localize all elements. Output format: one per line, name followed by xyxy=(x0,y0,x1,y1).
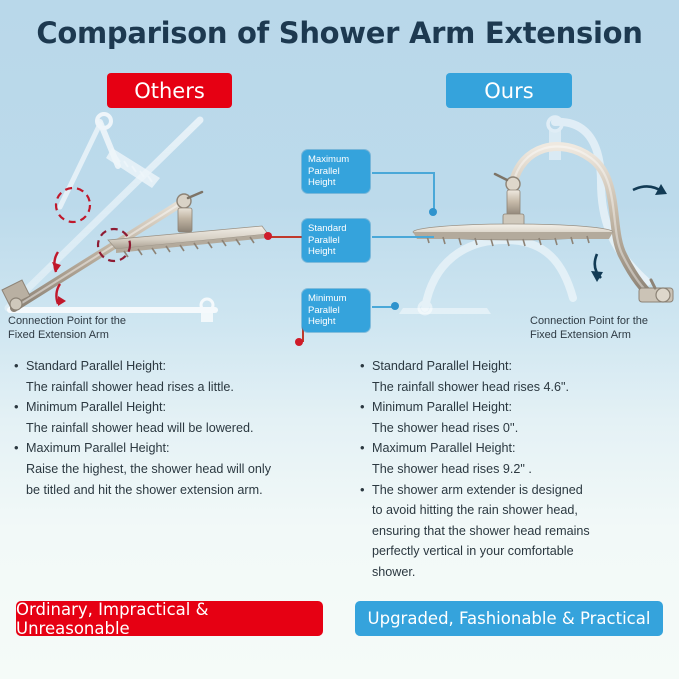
caption-left-line1: Connection Point for the xyxy=(8,314,126,328)
list-item-heading: Minimum Parallel Height: xyxy=(26,397,344,418)
list-item-detail: The rainfall shower head rises a little. xyxy=(14,377,344,398)
list-item: • Standard Parallel Height: xyxy=(360,356,675,377)
badge-ours: Ours xyxy=(446,73,572,108)
callout-minimum-line1: Minimum xyxy=(308,293,364,305)
list-item: • Maximum Parallel Height: xyxy=(360,438,675,459)
list-item-detail: The rainfall shower head rises 4.6". xyxy=(360,377,675,398)
caption-right-connection-point: Connection Point for the Fixed Extension… xyxy=(530,314,648,342)
connector-minimum-red-dot xyxy=(295,338,303,346)
badge-others-label: Others xyxy=(134,79,205,103)
connector-minimum-blue-dot xyxy=(391,302,399,310)
paragraph-line5: shower. xyxy=(360,562,675,583)
list-item-detail: The rainfall shower head will be lowered… xyxy=(14,418,344,439)
callout-standard-parallel-height: Standard Parallel Height xyxy=(302,219,370,262)
caption-right-line2: Fixed Extension Arm xyxy=(530,328,648,342)
infographic-canvas: Comparison of Shower Arm Extension Other… xyxy=(0,0,679,679)
ghost-lowered-head xyxy=(399,308,491,314)
list-item: • Minimum Parallel Height: xyxy=(14,397,344,418)
callout-standard-line2: Parallel Height xyxy=(308,235,364,258)
caption-right-line1: Connection Point for the xyxy=(530,314,648,328)
bullet-icon: • xyxy=(14,356,26,377)
callout-standard-line1: Standard xyxy=(308,223,364,235)
others-feature-list: • Standard Parallel Height: The rainfall… xyxy=(14,356,344,500)
connector-standard-red xyxy=(268,236,304,238)
paragraph-line3: ensuring that the shower head remains xyxy=(360,521,675,542)
callout-maximum-line1: Maximum xyxy=(308,154,364,166)
others-product-illustration xyxy=(0,112,310,322)
s-curved-extension-arm xyxy=(513,146,649,294)
badge-others: Others xyxy=(107,73,232,108)
connector-maximum-blue xyxy=(372,172,434,174)
callout-minimum-line2: Parallel Height xyxy=(308,305,364,328)
bullet-icon: • xyxy=(360,438,372,459)
list-item: • The shower arm extender is designed xyxy=(360,480,675,501)
list-item-heading: Minimum Parallel Height: xyxy=(372,397,675,418)
verdict-banner-others-label: Ordinary, Impractical & Unreasonable xyxy=(16,600,323,638)
callout-maximum-parallel-height: Maximum Parallel Height xyxy=(302,150,370,193)
page-title: Comparison of Shower Arm Extension xyxy=(0,16,679,50)
list-item-detail: The shower head rises 0''. xyxy=(360,418,675,439)
bullet-icon: • xyxy=(14,397,26,418)
list-item-heading: Maximum Parallel Height: xyxy=(26,438,344,459)
bullet-icon: • xyxy=(360,356,372,377)
paragraph-line2: to avoid hitting the rain shower head, xyxy=(360,500,675,521)
connector-maximum-dot xyxy=(429,208,437,216)
bullet-icon: • xyxy=(14,438,26,459)
ghost-raised-arm xyxy=(548,117,647,282)
bullet-icon: • xyxy=(360,397,372,418)
verdict-banner-ours-label: Upgraded, Fashionable & Practical xyxy=(368,609,651,628)
list-item: • Maximum Parallel Height: xyxy=(14,438,344,459)
connector-standard-blue xyxy=(372,236,434,238)
list-item-detail: The shower head rises 9.2" . xyxy=(360,459,675,480)
verdict-banner-ours: Upgraded, Fashionable & Practical xyxy=(355,601,663,636)
verdict-banner-others: Ordinary, Impractical & Unreasonable xyxy=(16,601,323,636)
list-item-heading: Standard Parallel Height: xyxy=(372,356,675,377)
list-item: • Minimum Parallel Height: xyxy=(360,397,675,418)
swivel-joint xyxy=(177,192,202,232)
caption-left-line2: Fixed Extension Arm xyxy=(8,328,126,342)
list-item-heading: Maximum Parallel Height: xyxy=(372,438,675,459)
ours-product-illustration xyxy=(395,112,679,322)
connector-maximum-drop xyxy=(433,172,435,212)
bullet-icon: • xyxy=(360,480,372,501)
list-item: • Standard Parallel Height: xyxy=(14,356,344,377)
swivel-and-stem xyxy=(495,174,524,228)
list-item-detail-cont: be titled and hit the shower extension a… xyxy=(14,480,344,501)
list-item-detail: Raise the highest, the shower head will … xyxy=(14,459,344,480)
callout-maximum-line2: Parallel Height xyxy=(308,166,364,189)
caption-left-connection-point: Connection Point for the Fixed Extension… xyxy=(8,314,126,342)
badge-ours-label: Ours xyxy=(484,79,533,103)
list-item-heading: Standard Parallel Height: xyxy=(26,356,344,377)
callout-minimum-parallel-height: Minimum Parallel Height xyxy=(302,289,370,332)
paragraph-line4: perfectly vertical in your comfortable xyxy=(360,541,675,562)
connector-standard-red-dot xyxy=(264,232,272,240)
ours-feature-list: • Standard Parallel Height: The rainfall… xyxy=(360,356,675,583)
ghost-lowered-arm xyxy=(419,240,573,314)
paragraph-line1: The shower arm extender is designed xyxy=(372,480,675,501)
